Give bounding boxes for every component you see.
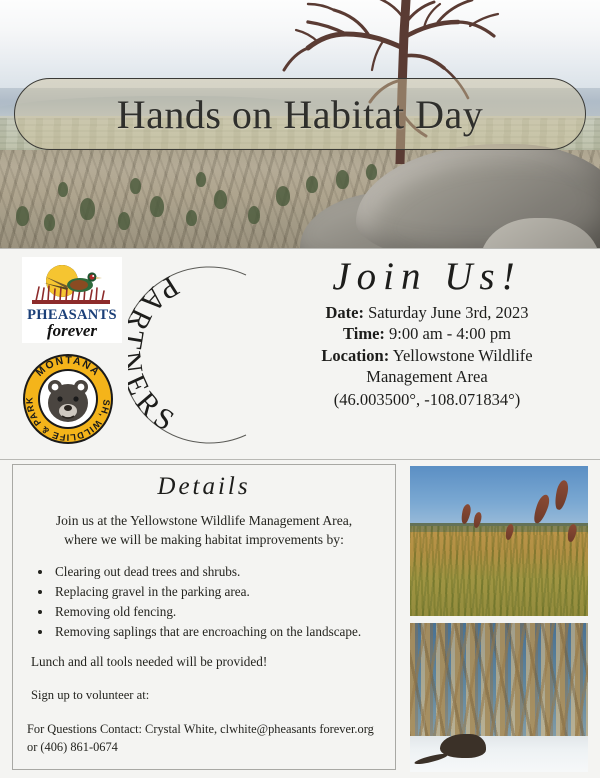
event-location-row-2: Management Area — [262, 366, 592, 387]
contact-block: For Questions Contact: Crystal White, cl… — [27, 721, 383, 757]
partners-arc: PARTNERS — [128, 257, 266, 453]
juniper-tree-icon — [214, 190, 227, 209]
juniper-tree-icon — [336, 170, 349, 189]
event-time-row: Time: 9:00 am - 4:00 pm — [262, 323, 592, 344]
details-note: Lunch and all tools needed will be provi… — [31, 654, 381, 670]
juniper-tree-icon — [80, 198, 95, 220]
montana-fwp-logo: MONTANA FISH, WILDLIFE & PARKS — [22, 353, 114, 445]
photo-pheasant-winter — [410, 623, 588, 772]
list-item: Replacing gravel in the parking area. — [53, 582, 381, 602]
photo-stalk-texture — [410, 526, 588, 616]
juniper-tree-icon — [306, 176, 318, 193]
juniper-tree-icon — [366, 164, 377, 180]
details-panel: Details Join us at the Yellowstone Wildl… — [12, 464, 396, 770]
details-bullet-list: Clearing out dead trees and shrubs. Repl… — [27, 562, 381, 642]
event-location-row: Location: Yellowstone Wildlife — [262, 345, 592, 366]
juniper-tree-icon — [130, 178, 141, 194]
event-date-value: Saturday June 3rd, 2023 — [368, 303, 528, 322]
juniper-tree-icon — [276, 186, 290, 206]
photo-winter-leaves — [410, 623, 588, 745]
details-intro-line-1: Join us at the Yellowstone Wildlife Mana… — [33, 511, 375, 530]
partner-logos: PHEASANTS forever — [22, 257, 126, 445]
juniper-tree-icon — [196, 172, 206, 187]
juniper-tree-icon — [248, 206, 260, 224]
svg-text:forever: forever — [47, 321, 97, 340]
svg-text:PARTNERS: PARTNERS — [128, 269, 185, 440]
juniper-tree-icon — [150, 196, 164, 217]
pheasants-forever-logo: PHEASANTS forever — [22, 257, 122, 343]
details-signup-text: Sign up to volunteer at: — [31, 688, 381, 703]
list-item: Removing old fencing. — [53, 602, 381, 622]
juniper-tree-icon — [16, 206, 29, 226]
juniper-tree-icon — [118, 212, 130, 230]
photo-food-plot-autumn — [410, 466, 588, 616]
event-time-value: 9:00 am - 4:00 pm — [389, 324, 511, 343]
partners-join-band: PHEASANTS forever — [0, 248, 600, 460]
event-coordinates: (46.003500°, -108.071834°) — [262, 389, 592, 410]
title-banner: Hands on Habitat Day — [14, 78, 586, 150]
details-intro: Join us at the Yellowstone Wildlife Mana… — [33, 511, 375, 550]
juniper-tree-icon — [186, 210, 197, 226]
contact-line-2: or (406) 861-0674 — [27, 739, 383, 757]
partners-label: PARTNERS — [128, 269, 185, 440]
join-us-block: Join Us! Date: Saturday June 3rd, 2023 T… — [262, 255, 592, 410]
lower-section: Details Join us at the Yellowstone Wildl… — [0, 460, 600, 778]
list-item: Clearing out dead trees and shrubs. — [53, 562, 381, 582]
event-location-value-2: Management Area — [366, 367, 487, 386]
list-item: Removing saplings that are encroaching o… — [53, 622, 381, 642]
flyer-page: Hands on Habitat Day — [0, 0, 600, 778]
contact-line-1: For Questions Contact: Crystal White, cl… — [27, 721, 383, 739]
hero-image: Hands on Habitat Day — [0, 0, 600, 248]
event-date-row: Date: Saturday June 3rd, 2023 — [262, 302, 592, 323]
event-location-label: Location: — [321, 346, 389, 365]
details-title: Details — [27, 473, 381, 501]
page-title: Hands on Habitat Day — [117, 91, 484, 138]
join-us-title: Join Us! — [262, 255, 592, 300]
event-date-label: Date: — [325, 303, 363, 322]
juniper-tree-icon — [58, 182, 68, 197]
event-time-label: Time: — [343, 324, 385, 343]
details-intro-line-2: where we will be making habitat improvem… — [33, 530, 375, 549]
juniper-tree-icon — [44, 214, 55, 231]
pheasant-icon — [440, 734, 486, 758]
event-location-value: Yellowstone Wildlife — [393, 346, 533, 365]
